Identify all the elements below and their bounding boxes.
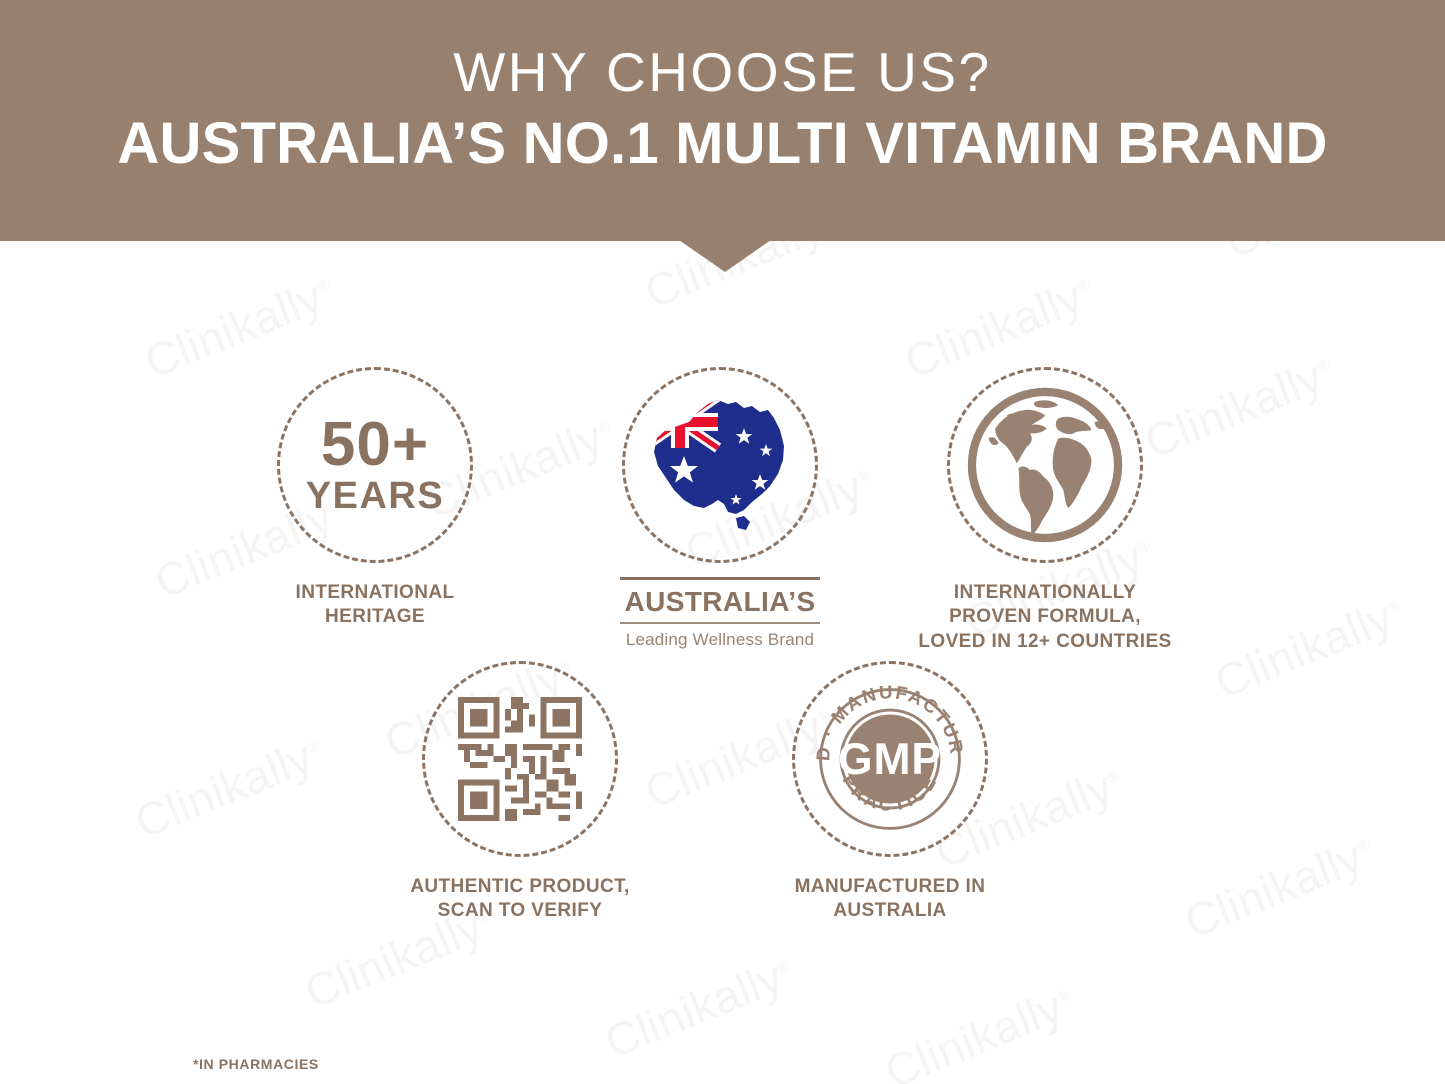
banner-notch-triangle — [679, 240, 771, 272]
badge-row-2: AUTHENTIC PRODUCT, SCAN TO VERIFY GO — [0, 571, 1445, 901]
badge-row-1: 50+ YEARS INTERNATIONAL HERITAGE — [0, 241, 1445, 571]
header-text-block: WHY CHOOSE US? AUSTRALIA’S NO.1 MULTI VI… — [0, 44, 1445, 175]
years-badge-icon: 50+ YEARS — [277, 367, 473, 563]
globe-svg — [962, 382, 1128, 548]
years-number: 50+ — [306, 415, 444, 476]
badges-content: 50+ YEARS INTERNATIONAL HERITAGE — [0, 241, 1445, 901]
australia-flag-map-svg — [640, 390, 800, 540]
australia-flag-map-icon — [622, 367, 818, 563]
header-banner: WHY CHOOSE US? AUSTRALIA’S NO.1 MULTI VI… — [0, 0, 1445, 241]
page-title-line1: WHY CHOOSE US? — [0, 44, 1445, 102]
gmp-seal-svg: GOOD · MANUFACTURING · PRACTICE GMP — [801, 670, 979, 848]
years-label: YEARS — [306, 477, 444, 515]
watermark-text: Clinikally® — [877, 975, 1082, 1084]
badge-caption: MANUFACTURED IN AUSTRALIA — [740, 875, 1040, 924]
globe-icon — [947, 367, 1143, 563]
qr-code-icon — [422, 661, 618, 857]
badge-authentic-product: AUTHENTIC PRODUCT, SCAN TO VERIFY — [380, 661, 660, 924]
gmp-center-text: GMP — [838, 735, 942, 784]
page-title-line2: AUSTRALIA’S NO.1 MULTI VITAMIN BRAND — [0, 114, 1445, 175]
infographic-page: Clinikally® Clinikally® Clinikally® Clin… — [0, 0, 1445, 1084]
watermark-text: Clinikally® — [597, 945, 802, 1070]
badge-manufactured-in-australia: GOOD · MANUFACTURING · PRACTICE GMP MANU… — [750, 661, 1030, 924]
gmp-seal-icon: GOOD · MANUFACTURING · PRACTICE GMP — [792, 661, 988, 857]
badge-caption: AUTHENTIC PRODUCT, SCAN TO VERIFY — [365, 875, 675, 924]
qr-code-svg — [458, 697, 582, 821]
footnote: *IN PHARMACIES — [193, 1056, 319, 1072]
